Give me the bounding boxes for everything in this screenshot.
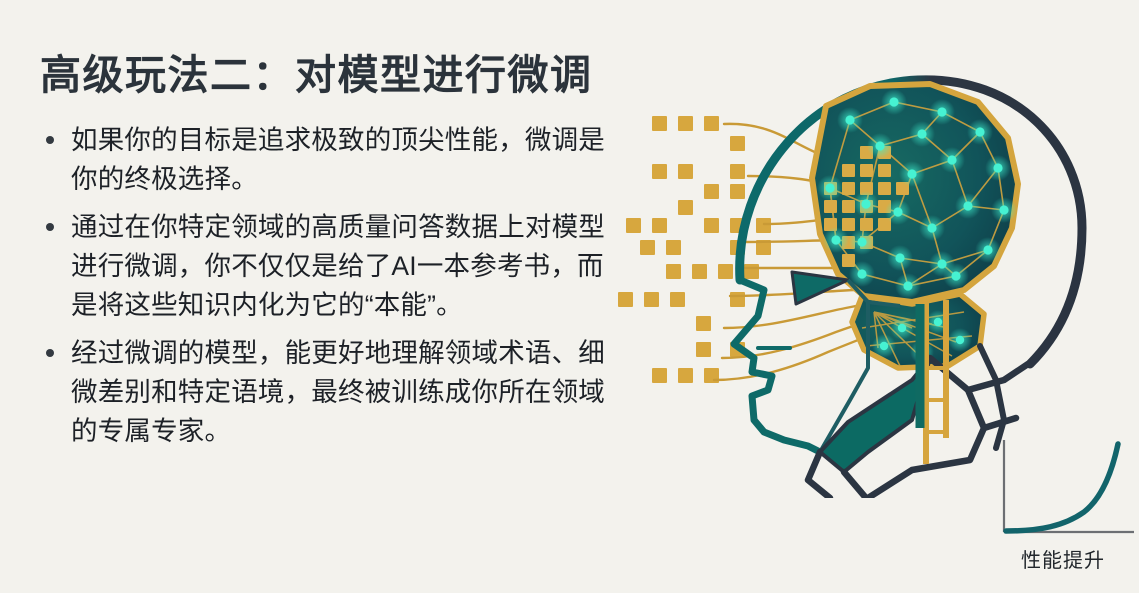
chart-curve <box>1006 444 1118 531</box>
bullet-dot-icon <box>46 136 54 144</box>
list-item: 如果你的目标是追求极致的顶尖性能，微调是你的终极选择。 <box>40 121 620 199</box>
ai-brain-head-illustration <box>612 28 1139 498</box>
mini-chart-svg <box>988 432 1138 542</box>
list-item: 通过在你特定领域的高质量问答数据上对模型进行微调，你不仅仅是给了AI一本参考书，… <box>40 208 620 325</box>
list-item-text: 通过在你特定领域的高质量问答数据上对模型进行微调，你不仅仅是给了AI一本参考书，… <box>71 212 605 320</box>
list-item-text: 如果你的目标是追求极致的顶尖性能，微调是你的终极选择。 <box>71 125 605 194</box>
data-pixels-icon <box>618 116 771 383</box>
text-column: 高级玩法二：对模型进行微调 如果你的目标是追求极致的顶尖性能，微调是你的终极选择… <box>40 52 620 460</box>
neck-fill-teal <box>820 358 930 472</box>
bullet-dot-icon <box>46 349 54 357</box>
face-profile-outline <box>734 280 820 452</box>
list-item: 经过微调的模型，能更好地理解领域术语、细微差别和特定语境，最终被训练成你所在领域… <box>40 334 620 451</box>
bullet-list: 如果你的目标是追求极致的顶尖性能，微调是你的终极选择。 通过在你特定领域的高质量… <box>40 121 620 451</box>
performance-mini-chart: 性能提升 <box>988 432 1138 587</box>
list-item-text: 经过微调的模型，能更好地理解领域术语、细微差别和特定语境，最终被训练成你所在领域… <box>71 338 605 446</box>
ai-brain-svg <box>612 28 1139 498</box>
bullet-dot-icon <box>46 223 54 231</box>
page-title: 高级玩法二：对模型进行微调 <box>40 52 620 99</box>
mini-chart-label: 性能提升 <box>988 544 1138 573</box>
slide-root: 高级玩法二：对模型进行微调 如果你的目标是追求极致的顶尖性能，微调是你的终极选择… <box>0 0 1139 593</box>
